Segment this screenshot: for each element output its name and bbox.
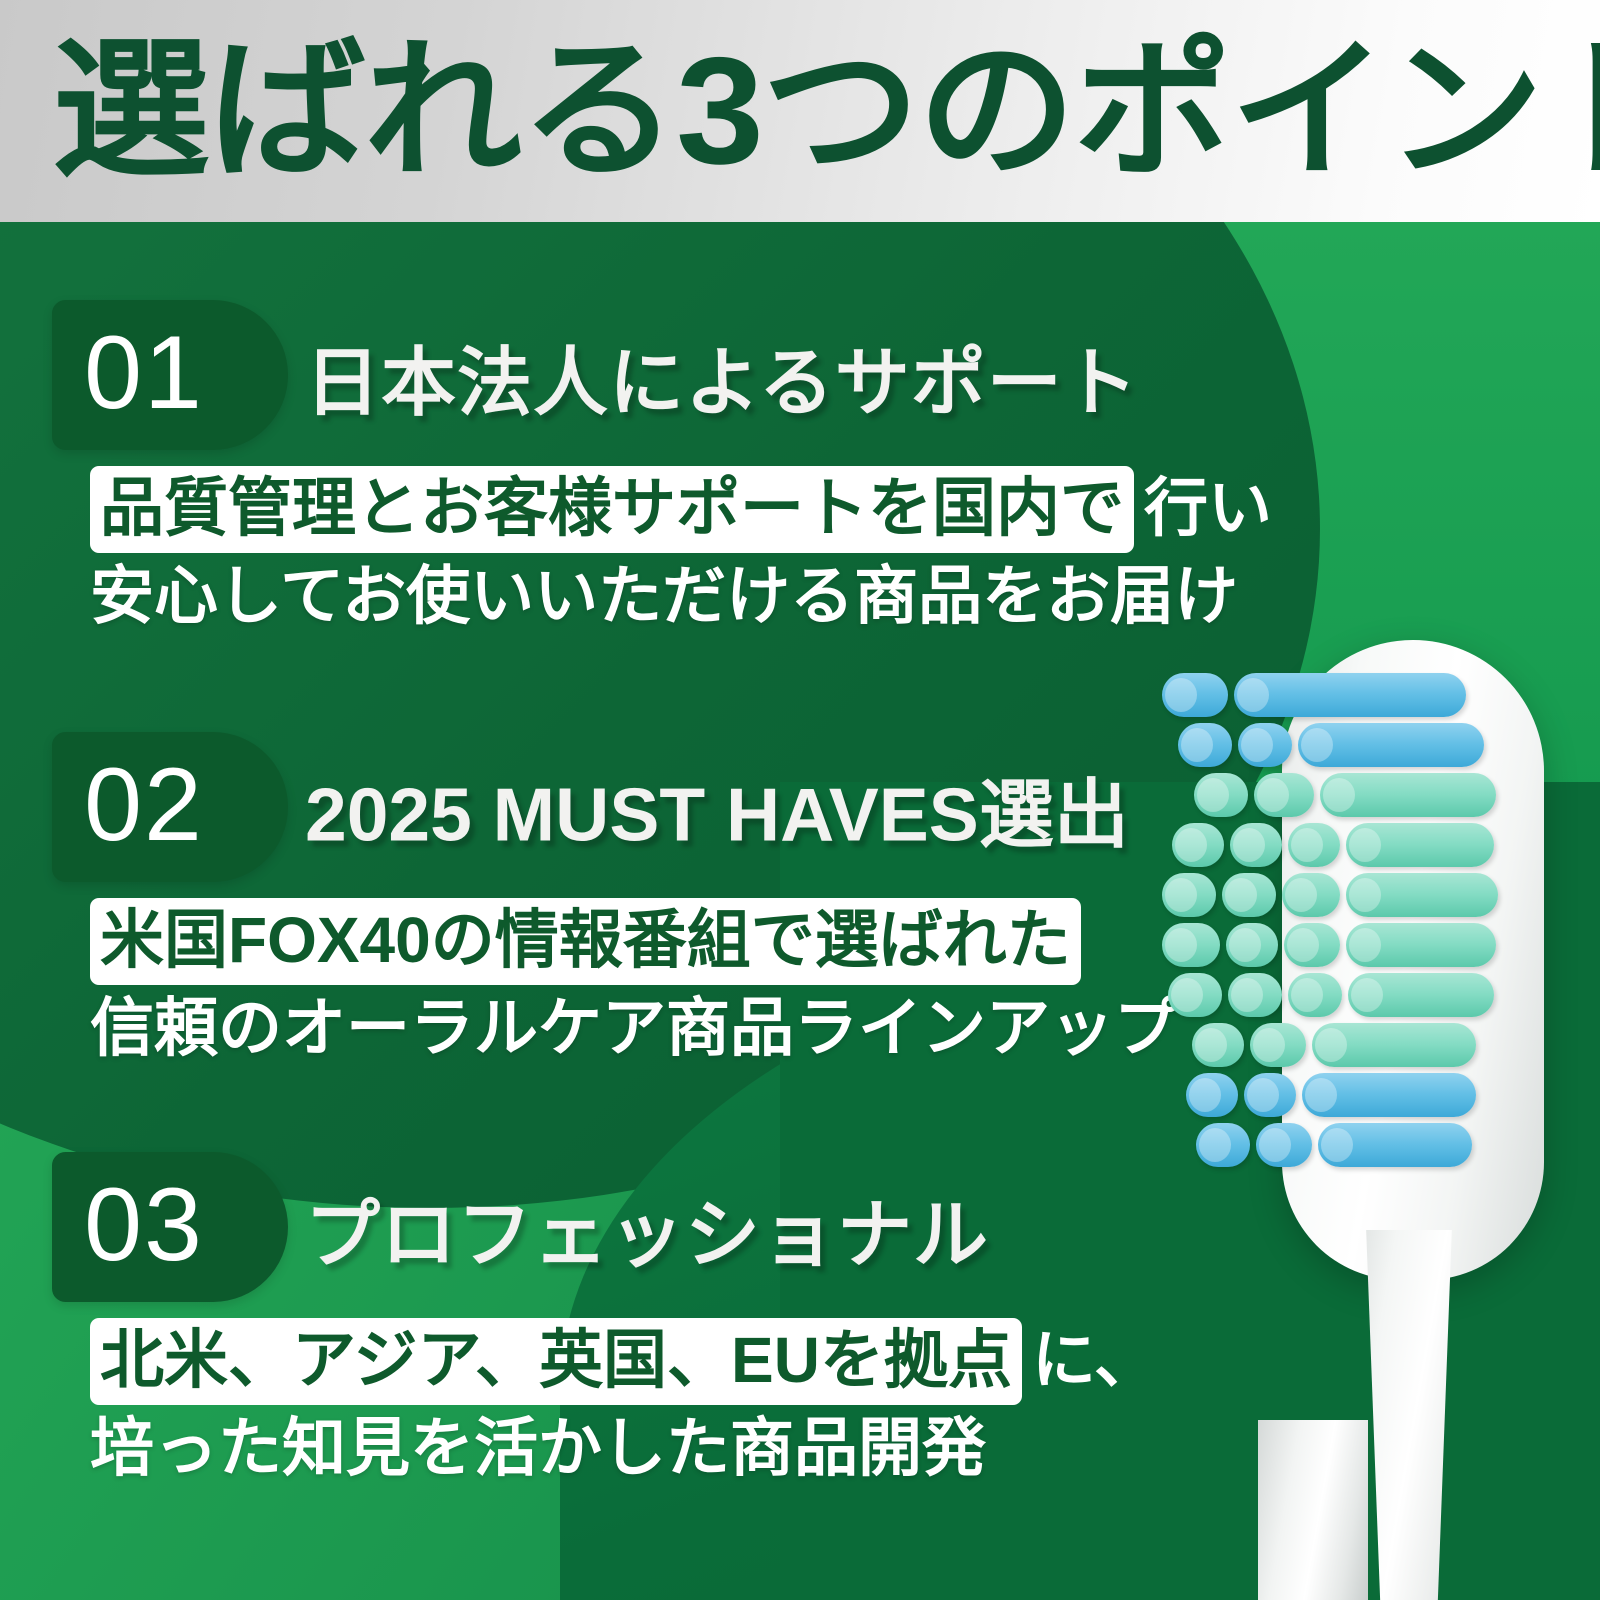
point-body-highlight-02: 米国FOX40の情報番組で選ばれた bbox=[90, 898, 1081, 985]
point-badge-02: 02 bbox=[52, 732, 288, 882]
point-block-01: 01 日本法人によるサポート 品質管理とお客様サポートを国内で行い 安心してお使… bbox=[0, 300, 1600, 638]
point-badge-03: 03 bbox=[52, 1152, 288, 1302]
bristle-row-8 bbox=[1192, 1022, 1476, 1068]
point-body-highlight-03: 北米、アジア、英国、EUを拠点 bbox=[90, 1318, 1022, 1405]
point-number-02: 02 bbox=[52, 753, 236, 857]
point-body-trailing-01: 行い bbox=[1134, 472, 1272, 544]
point-body-highlight-01: 品質管理とお客様サポートを国内で bbox=[90, 466, 1134, 553]
infographic-page: 選ばれる3つのポイント 01 日本法人によるサポート 品質管理とお客様サポートを… bbox=[0, 0, 1600, 1600]
badge-row-01: 01 日本法人によるサポート bbox=[0, 300, 1600, 452]
point-body-01: 品質管理とお客様サポートを国内で行い 安心してお使いいただける商品をお届け bbox=[0, 468, 1600, 638]
bristle-row-2 bbox=[1178, 722, 1484, 768]
bristle-row-10 bbox=[1196, 1122, 1472, 1168]
point-body-line2-01: 安心してお使いいただける商品をお届け bbox=[90, 556, 1600, 638]
bristle-row-3 bbox=[1194, 772, 1496, 818]
point-number-01: 01 bbox=[52, 321, 236, 425]
header-band: 選ばれる3つのポイント bbox=[0, 0, 1600, 222]
point-number-03: 03 bbox=[52, 1173, 236, 1277]
toothbrush-head bbox=[1150, 630, 1600, 1600]
point-body-trailing-03: に、 bbox=[1022, 1324, 1158, 1396]
point-heading-02: 2025 MUST HAVES選出 bbox=[305, 754, 1129, 863]
point-body-line1-01: 品質管理とお客様サポートを国内で行い bbox=[90, 468, 1600, 550]
bristle-row-7 bbox=[1168, 972, 1494, 1018]
brush-handle-bottom bbox=[1258, 1420, 1368, 1600]
point-badge-01: 01 bbox=[52, 300, 288, 450]
bristle-row-9 bbox=[1186, 1072, 1476, 1118]
point-heading-01: 日本法人によるサポート bbox=[305, 322, 1139, 431]
bristle-row-1 bbox=[1162, 672, 1466, 718]
bristle-row-4 bbox=[1172, 822, 1494, 868]
bristle-row-6 bbox=[1162, 922, 1496, 968]
bristle-row-5 bbox=[1162, 872, 1498, 918]
page-title: 選ばれる3つのポイント bbox=[52, 24, 1600, 199]
point-body-trailing-02 bbox=[1081, 904, 1091, 976]
point-heading-03: プロフェッショナル bbox=[305, 1174, 989, 1283]
